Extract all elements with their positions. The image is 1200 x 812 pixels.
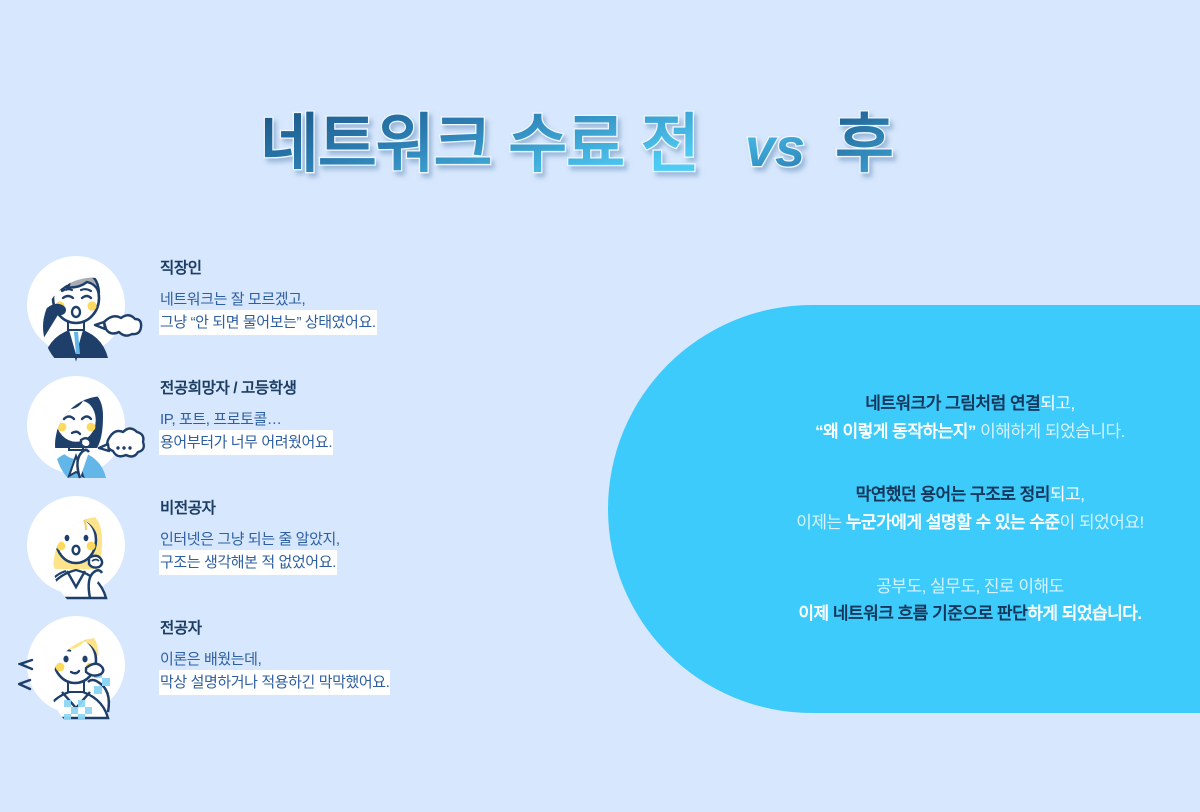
- after-emphasis-white: 누군가에게 설명할 수 있는 수준: [846, 513, 1060, 532]
- before-role-label: 비전공자: [160, 500, 340, 519]
- after-block-1: 네트워크가 그림처럼 연결되고, “왜 이렇게 동작하는지” 이해하게 되었습니…: [758, 390, 1182, 445]
- before-item-major-student: 전공자 이론은 배웠는데, 막상 설명하거나 적용하긴 막막했어요.: [18, 608, 578, 728]
- before-line-1: 인터넷은 그냥 되는 줄 알았지,: [160, 528, 340, 551]
- avatar-office-worker: [18, 248, 148, 366]
- after-lead-bold: 이제: [798, 604, 833, 623]
- after-block-1-line-1: 네트워크가 그림처럼 연결되고,: [758, 390, 1182, 418]
- before-line-2: 그냥 “안 되면 물어보는” 상태였어요.: [160, 311, 376, 334]
- before-role-label: 직장인: [160, 260, 376, 279]
- before-section: 직장인 네트워크는 잘 모르겠고, 그냥 “안 되면 물어보는” 상태였어요.: [18, 248, 578, 728]
- after-tail: 되고,: [1050, 485, 1085, 504]
- before-text-block: 전공자 이론은 배웠는데, 막상 설명하거나 적용하긴 막막했어요.: [160, 608, 389, 694]
- after-block-3: 공부도, 실무도, 진로 이해도 이제 네트워크 흐름 기준으로 판단하게 되었…: [758, 573, 1182, 628]
- title-vs-text: vs: [745, 118, 805, 178]
- title-main-text: 네트워크 수료 전: [260, 108, 699, 180]
- before-text-block: 비전공자 인터넷은 그냥 되는 줄 알았지, 구조는 생각해본 적 없었어요.: [160, 488, 340, 574]
- before-line-1: 이론은 배웠는데,: [160, 648, 261, 671]
- after-tail: 이해하게 되었습니다.: [976, 422, 1125, 441]
- page-title: 네트워크 수료 전 vs 후: [0, 96, 1200, 196]
- infographic-canvas: 네트워크 수료 전 vs 후: [0, 0, 1200, 812]
- avatar-high-school-student: [18, 368, 148, 486]
- after-emphasis-dark: 네트워크 흐름 기준으로 판단: [833, 604, 1027, 623]
- after-lead: 이제는: [796, 513, 846, 532]
- after-tail-bold: 하게 되었습니다.: [1027, 604, 1141, 623]
- before-line-1: IP, 포트, 프로토콜…: [160, 408, 282, 431]
- avatar-major-student: [18, 608, 148, 726]
- after-block-2-line-1: 막연했던 용어는 구조로 정리되고,: [758, 481, 1182, 509]
- after-tail: 되고,: [1040, 394, 1075, 413]
- before-role-label: 전공희망자 / 고등학생: [160, 380, 332, 399]
- before-line-2: 구조는 생각해본 적 없었어요.: [160, 551, 336, 574]
- before-text-block: 전공희망자 / 고등학생 IP, 포트, 프로토콜… 용어부터가 너무 어려웠어…: [160, 368, 332, 454]
- avatar-non-major: [18, 488, 148, 606]
- after-block-3-line-2: 이제 네트워크 흐름 기준으로 판단하게 되었습니다.: [758, 600, 1182, 628]
- before-line-2: 용어부터가 너무 어려웠어요.: [160, 431, 332, 454]
- before-line-2: 막상 설명하거나 적용하긴 막막했어요.: [160, 671, 389, 694]
- after-soft-line: 공부도, 실무도, 진로 이해도: [876, 577, 1064, 596]
- title-artwork: 네트워크 수료 전 vs 후: [250, 96, 950, 196]
- before-text-block: 직장인 네트워크는 잘 모르겠고, 그냥 “안 되면 물어보는” 상태였어요.: [160, 248, 376, 334]
- after-emphasis-dark: 네트워크가 그림처럼 연결: [865, 394, 1040, 413]
- after-panel: 네트워크가 그림처럼 연결되고, “왜 이렇게 동작하는지” 이해하게 되었습니…: [608, 305, 1200, 713]
- after-block-2-line-2: 이제는 누군가에게 설명할 수 있는 수준이 되었어요!: [758, 509, 1182, 537]
- before-item-office-worker: 직장인 네트워크는 잘 모르겠고, 그냥 “안 되면 물어보는” 상태였어요.: [18, 248, 578, 368]
- before-item-non-major: 비전공자 인터넷은 그냥 되는 줄 알았지, 구조는 생각해본 적 없었어요.: [18, 488, 578, 608]
- after-emphasis-dark: 막연했던 용어는 구조로 정리: [856, 485, 1050, 504]
- before-item-high-school-student: 전공희망자 / 고등학생 IP, 포트, 프로토콜… 용어부터가 너무 어려웠어…: [18, 368, 578, 488]
- before-line-1: 네트워크는 잘 모르겠고,: [160, 288, 305, 311]
- after-block-2: 막연했던 용어는 구조로 정리되고, 이제는 누군가에게 설명할 수 있는 수준…: [758, 481, 1182, 536]
- after-emphasis-white: “왜 이렇게 동작하는지”: [815, 422, 976, 441]
- after-tail: 이 되었어요!: [1060, 513, 1144, 532]
- after-block-3-line-1: 공부도, 실무도, 진로 이해도: [758, 573, 1182, 601]
- before-role-label: 전공자: [160, 620, 389, 639]
- title-after-text: 후: [835, 108, 894, 180]
- after-block-1-line-2: “왜 이렇게 동작하는지” 이해하게 되었습니다.: [758, 418, 1182, 446]
